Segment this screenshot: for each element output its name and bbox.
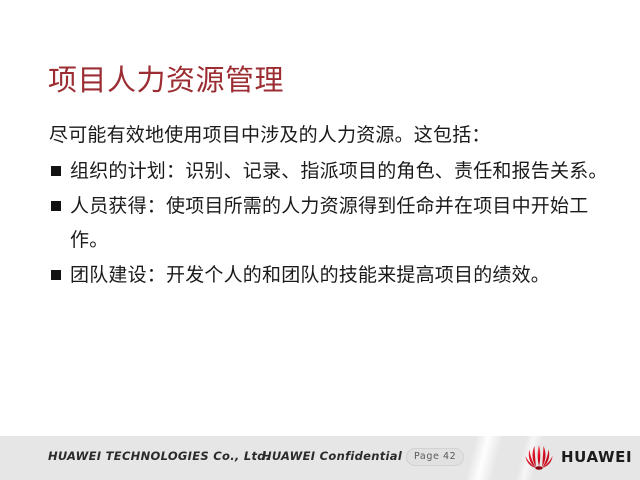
footer-highlight-streak <box>459 436 506 480</box>
slide-canvas: 项目人力资源管理 尽可能有效地使用项目中涉及的人力资源。这包括： 组织的计划：识… <box>0 0 640 480</box>
square-bullet-icon <box>51 201 61 211</box>
list-item-label: 团队建设：开发个人的和团队的技能来提高项目的绩效。 <box>70 264 550 286</box>
slide-footer: HUAWEI TECHNOLOGIES Co., Ltd. HUAWEI Con… <box>0 436 640 480</box>
footer-company-name: HUAWEI TECHNOLOGIES Co., Ltd. <box>48 449 270 463</box>
list-item-label: 人员获得：使项目所需的人力资源得到任命并在项目中开始工作。 <box>70 195 588 251</box>
square-bullet-icon <box>51 166 61 176</box>
list-item: 人员获得：使项目所需的人力资源得到任命并在项目中开始工作。 <box>49 189 609 257</box>
page-title: 项目人力资源管理 <box>48 63 284 97</box>
huawei-wordmark: HUAWEI <box>561 450 632 465</box>
list-item-label: 组织的计划：识别、记录、指派项目的角色、责任和报告关系。 <box>70 160 608 182</box>
list-item: 组织的计划：识别、记录、指派项目的角色、责任和报告关系。 <box>49 154 609 188</box>
lead-paragraph: 尽可能有效地使用项目中涉及的人力资源。这包括： <box>49 118 609 152</box>
huawei-flower-icon <box>524 443 554 471</box>
page-number-badge: Page 42 <box>406 448 464 466</box>
list-item: 团队建设：开发个人的和团队的技能来提高项目的绩效。 <box>49 258 609 292</box>
footer-confidentiality-notice: HUAWEI Confidential <box>262 449 402 463</box>
slide-body: 尽可能有效地使用项目中涉及的人力资源。这包括： 组织的计划：识别、记录、指派项目… <box>49 118 609 293</box>
bullet-list: 组织的计划：识别、记录、指派项目的角色、责任和报告关系。 人员获得：使项目所需的… <box>49 154 609 292</box>
brand-logo: HUAWEI <box>524 443 632 471</box>
square-bullet-icon <box>51 270 61 280</box>
